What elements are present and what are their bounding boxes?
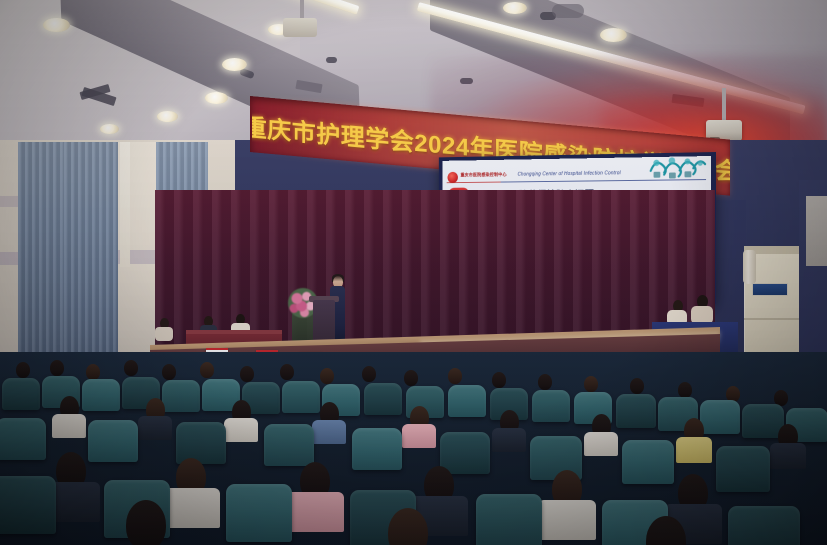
attendee-torso xyxy=(286,492,344,532)
attendee-head xyxy=(162,364,176,380)
attendee-head xyxy=(50,360,64,376)
auditorium-seat xyxy=(0,476,56,534)
ceiling-projector-2 xyxy=(283,18,317,37)
auditorium-seat xyxy=(728,506,800,545)
attendee-torso xyxy=(52,414,86,438)
wall-curtain-1 xyxy=(18,142,64,370)
right-wall-window xyxy=(806,196,827,266)
attendee-torso xyxy=(224,418,258,442)
projector-mount-rod xyxy=(722,88,726,124)
auditorium-seat xyxy=(476,494,542,545)
attendee-head xyxy=(448,368,462,384)
wall-sign xyxy=(752,283,788,296)
downlight-5 xyxy=(222,58,247,71)
downlight-8 xyxy=(503,2,527,14)
auditorium-seat xyxy=(88,420,138,462)
attendee-torso xyxy=(770,443,806,469)
auditorium-seat xyxy=(448,385,486,417)
attendee-torso xyxy=(584,432,618,456)
attendee-head xyxy=(362,366,376,382)
attendee-torso xyxy=(138,416,172,440)
attendee-head xyxy=(124,360,138,376)
attendee-head xyxy=(404,370,418,386)
auditorium-seat xyxy=(352,428,402,470)
auditorium-seat xyxy=(82,379,120,411)
slide-header-rule xyxy=(447,179,706,183)
auditorium-seat xyxy=(622,440,674,484)
attendee-head xyxy=(678,382,692,398)
auditorium-seat xyxy=(532,390,570,422)
ceiling-speaker-2 xyxy=(326,57,337,63)
attendee-head xyxy=(126,500,166,545)
slide-decorative-artwork xyxy=(647,156,707,181)
auditorium-seat xyxy=(716,446,770,492)
attendee-head xyxy=(240,366,254,382)
attendee-torso xyxy=(538,500,596,540)
slide-org-name-en: Chongqing Center of Hospital Infection C… xyxy=(518,170,621,177)
attendee-head xyxy=(280,364,294,380)
attendee-torso xyxy=(492,428,526,452)
slide-org-name-cn: 重庆市医院感染控制中心 xyxy=(460,172,506,178)
attendee-head xyxy=(320,368,334,384)
downlight-2 xyxy=(205,92,228,104)
auditorium-seat xyxy=(364,383,402,415)
attendee-head xyxy=(86,364,100,380)
downlight-1 xyxy=(43,18,70,32)
auditorium-seat xyxy=(700,400,740,434)
ceiling-vent-4 xyxy=(552,4,584,18)
auditorium-seat xyxy=(282,381,320,413)
auditorium-seat xyxy=(616,394,656,428)
air-conditioner-seam xyxy=(744,318,799,320)
downlight-7 xyxy=(600,28,627,42)
attendee-head xyxy=(492,372,506,388)
auditorium-seat xyxy=(0,418,46,460)
attendee-torso xyxy=(676,437,712,463)
panel-member-body xyxy=(155,327,173,341)
attendee-head xyxy=(16,362,30,378)
air-conditioner-cylinder xyxy=(743,250,756,284)
wall-curtain-2 xyxy=(64,142,120,370)
attendee-torso xyxy=(402,424,436,448)
attendee-head xyxy=(630,378,644,394)
downlight-4 xyxy=(100,124,119,134)
downlight-3 xyxy=(157,111,178,122)
attendee-head xyxy=(584,376,598,392)
auditorium-photo: 重庆市护理学会2024年医院感染防控学术年会 xyxy=(0,0,827,545)
auditorium-seat xyxy=(2,378,40,410)
window-gap xyxy=(120,142,130,267)
auditorium-seat xyxy=(264,424,314,466)
attendee-torso xyxy=(312,420,346,444)
auditorium-seat xyxy=(162,380,200,412)
auditorium-seat xyxy=(226,484,292,542)
attendee-head xyxy=(538,374,552,390)
attendee-torso xyxy=(162,488,220,528)
auditorium-seat xyxy=(176,422,226,464)
attendee-head xyxy=(200,362,214,378)
auditorium-seat xyxy=(440,432,490,474)
